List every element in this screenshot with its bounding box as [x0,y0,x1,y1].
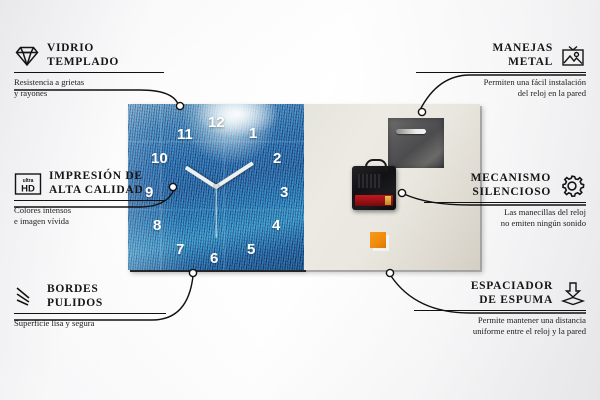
picture-hanger-icon [560,44,586,68]
mechanism-hook [365,159,387,171]
callout-title: MANEJASMETAL [493,42,554,69]
callout-header: MECANISMOSILENCIOSO [424,172,586,199]
callout-description: Resistencia a grietas y rayones [14,77,164,99]
callout-title: VIDRIOTEMPLADO [47,42,119,69]
clock-numeral-1: 1 [249,126,257,141]
clock-numeral-5: 5 [247,242,255,257]
clock-numeral-6: 6 [210,251,218,266]
gear-icon [558,173,586,199]
battery-part [355,195,393,206]
callout-header: ultra HD IMPRESIÓN DEALTA CALIDAD [14,170,166,197]
clock-numeral-11: 11 [177,127,193,142]
callout-manejas-metal: MANEJASMETAL Permiten una fácil instalac… [416,42,586,99]
diamond-icon [14,44,40,68]
callout-espaciador-de-espuma: ESPACIADORDE ESPUMA Permite mantener una… [414,280,586,337]
callout-header: MANEJASMETAL [416,42,586,69]
callout-title: IMPRESIÓN DEALTA CALIDAD [49,170,143,197]
callout-header: ESPACIADORDE ESPUMA [414,280,586,307]
callout-divider [14,72,164,73]
hanger-slot [396,129,426,134]
clock-numeral-2: 2 [273,151,281,166]
callout-title: ESPACIADORDE ESPUMA [471,280,553,307]
callout-header: VIDRIOTEMPLADO [14,42,164,69]
ultra-hd-icon: ultra HD [14,172,42,196]
callout-description: Permite mantener una distancia uniforme … [414,315,586,337]
clock-numeral-7: 7 [176,242,184,257]
callout-divider [14,313,166,314]
callout-title: MECANISMOSILENCIOSO [471,172,551,199]
clock-numeral-10: 10 [151,151,168,166]
arrow-down-onto-layer-icon [560,281,586,307]
callout-divider [14,200,166,201]
callout-divider [424,202,586,203]
clock-numeral-3: 3 [280,185,288,200]
foam-spacer-part [370,232,386,248]
callout-mecanismo-silencioso: MECANISMOSILENCIOSO Las manecillas del r… [424,172,586,229]
clock-numeral-12: 12 [208,115,225,130]
mechanism-label [358,174,382,188]
callout-impresion-alta-calidad: ultra HD IMPRESIÓN DEALTA CALIDAD Colore… [14,170,166,227]
polished-edges-icon [14,285,40,309]
clock-second-hand [215,188,216,238]
callout-description: Colores intensos e imagen vívida [14,205,166,227]
callout-title: BORDESPULIDOS [47,283,103,310]
callout-description: Permiten una fácil instalación del reloj… [416,77,586,99]
callout-header: BORDESPULIDOS [14,283,166,310]
clock-center-pin [214,184,219,189]
infographic-canvas: 12 1 2 3 4 5 6 7 8 9 10 11 [0,0,600,400]
callout-divider [416,72,586,73]
callout-vidrio-templado: VIDRIOTEMPLADO Resistencia a grietas y r… [14,42,164,99]
callout-description: Las manecillas del reloj no emiten ningú… [424,207,586,229]
silent-mechanism-part [352,166,396,210]
svg-text:HD: HD [21,183,35,194]
clock-numeral-4: 4 [272,218,280,233]
callout-description: Superficie lisa y segura [14,318,166,329]
metal-hanger-part [388,118,444,168]
callout-divider [414,310,586,311]
callout-bordes-pulidos: BORDESPULIDOS Superficie lisa y segura [14,283,166,329]
